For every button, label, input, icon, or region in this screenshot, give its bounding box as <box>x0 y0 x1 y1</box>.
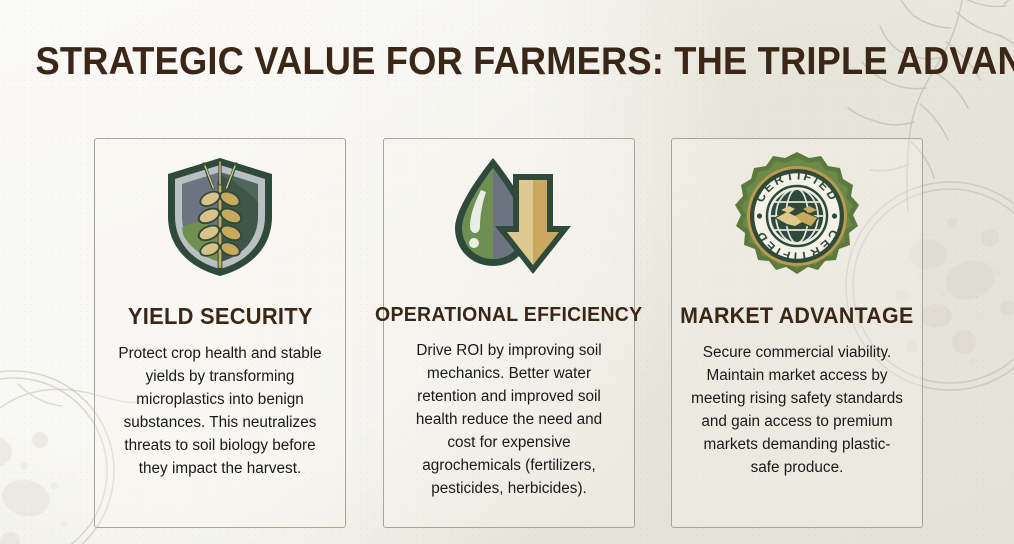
card-body: Protect crop health and stable yields by… <box>114 342 326 480</box>
wheat-shield-icon <box>154 150 286 282</box>
cards-container: YIELD SECURITY Protect crop health and s… <box>0 138 1014 530</box>
card-title: OPERATIONAL EFFICIENCY <box>375 303 642 327</box>
card-title: MARKET ADVANTAGE <box>680 303 913 329</box>
card-market-advantage[interactable]: CERTIFIED CERTIFIED MARKET ADVANTAGE Sec… <box>671 138 923 528</box>
card-operational-efficiency[interactable]: OPERATIONAL EFFICIENCY Drive ROI by impr… <box>383 138 635 528</box>
card-body: Drive ROI by improving soil mechanics. B… <box>403 339 615 500</box>
page-title: STRATEGIC VALUE FOR FARMERS: THE TRIPLE … <box>35 40 978 84</box>
icon-container: CERTIFIED CERTIFIED <box>672 141 922 291</box>
certified-seal-handshake-icon: CERTIFIED CERTIFIED <box>729 148 865 284</box>
icon-container <box>384 141 634 291</box>
card-title: YIELD SECURITY <box>128 303 313 330</box>
icon-container <box>95 141 345 291</box>
water-droplet-down-arrow-icon <box>441 150 577 282</box>
card-yield-security[interactable]: YIELD SECURITY Protect crop health and s… <box>94 138 346 528</box>
card-body: Secure commercial viability. Maintain ma… <box>691 341 903 479</box>
